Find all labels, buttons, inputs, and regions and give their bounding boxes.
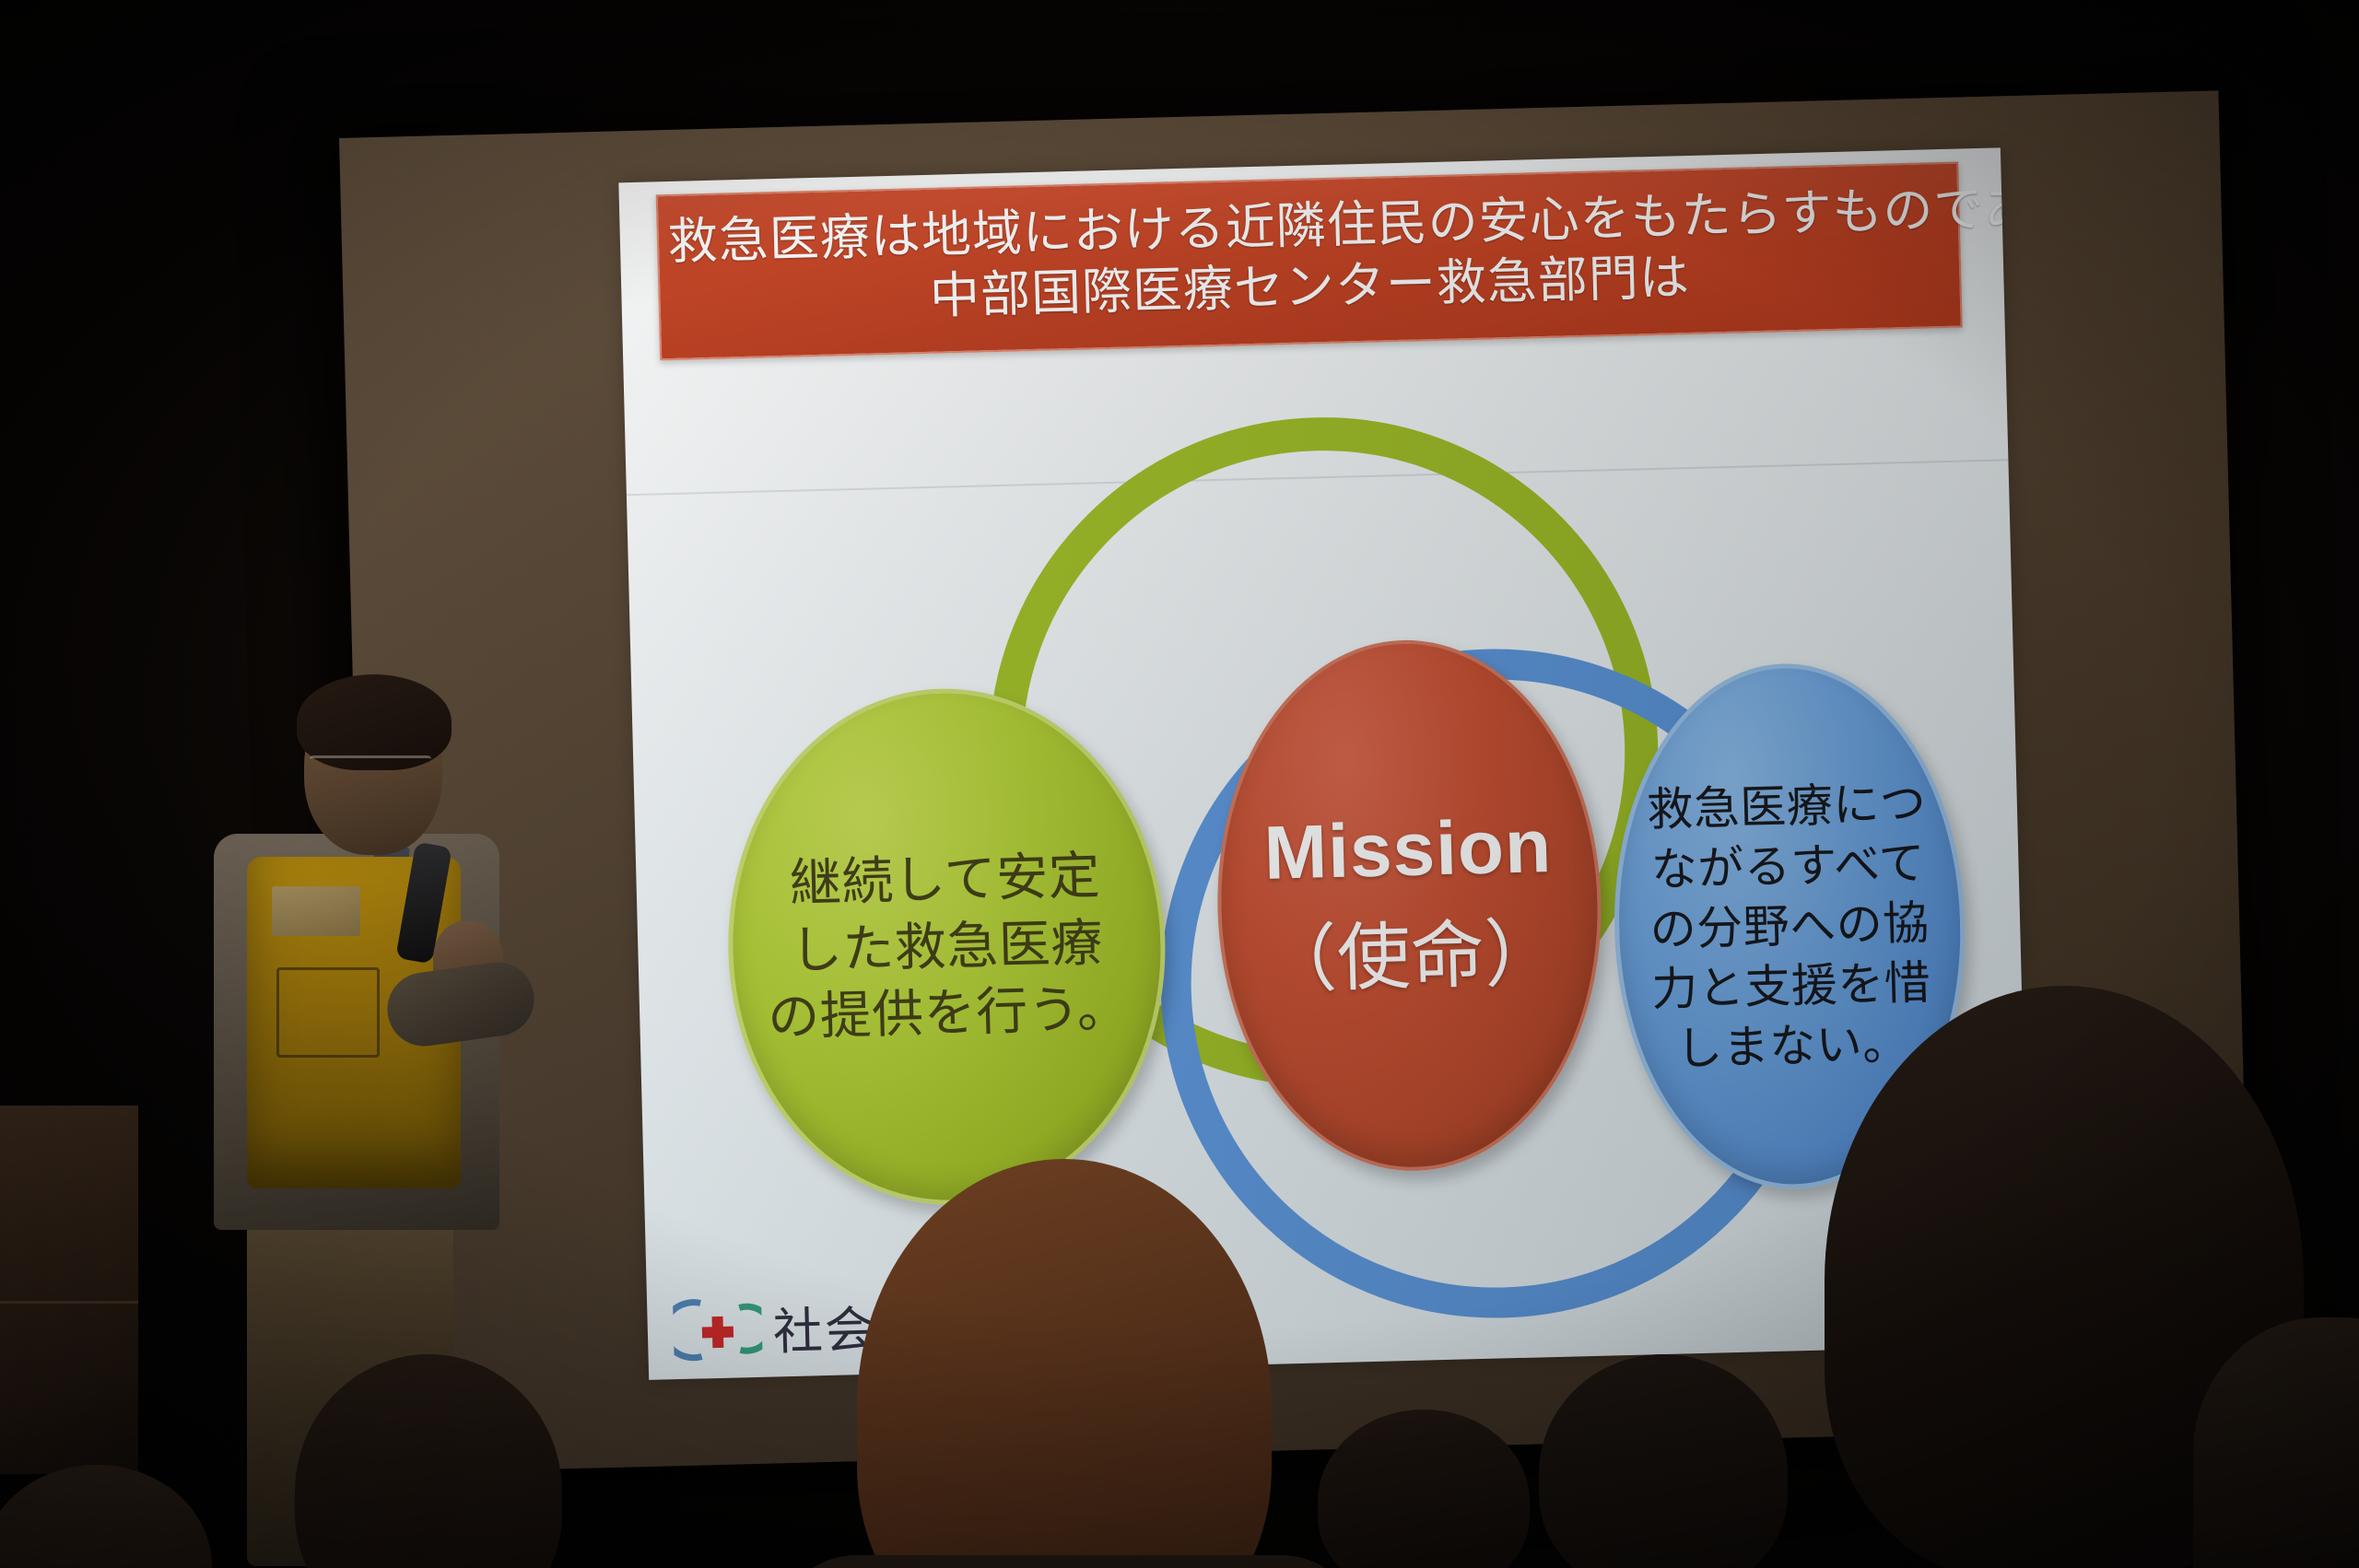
- right-bubble-text: 救急医療につ ながるすべて の分野への協 力と支援を惜 しまない。: [1647, 773, 1933, 1080]
- audience-shoulders: [774, 1555, 1364, 1568]
- slide-title-banner: 救急医療は地域における近隣住民の安心をもたらすものであり 中部国際医療センター救…: [656, 162, 1963, 360]
- presentation-slide: 救急医療は地域における近隣住民の安心をもたらすものであり 中部国際医療センター救…: [618, 147, 2030, 1380]
- presenter-vest-pocket: [276, 967, 380, 1058]
- medical-cross-swoosh-icon: [673, 1292, 763, 1365]
- presentation-photo-scene: 救急医療は地域における近隣住民の安心をもたらすものであり 中部国際医療センター救…: [0, 0, 2359, 1568]
- mission-label-en: Mission: [1263, 803, 1554, 897]
- mission-label-jp: （使命）: [1262, 894, 1559, 1008]
- left-bubble-text: 継続して安定 した救急医療 の提供を行う。: [764, 841, 1131, 1051]
- room-furniture: [0, 1106, 138, 1474]
- presenter-vest-badge: [272, 886, 360, 936]
- presenter-glasses: [310, 755, 431, 782]
- mission-diagram: 継続して安定 した救急医療 の提供を行う。 Mission （使命） 救急医療に…: [625, 394, 2030, 1360]
